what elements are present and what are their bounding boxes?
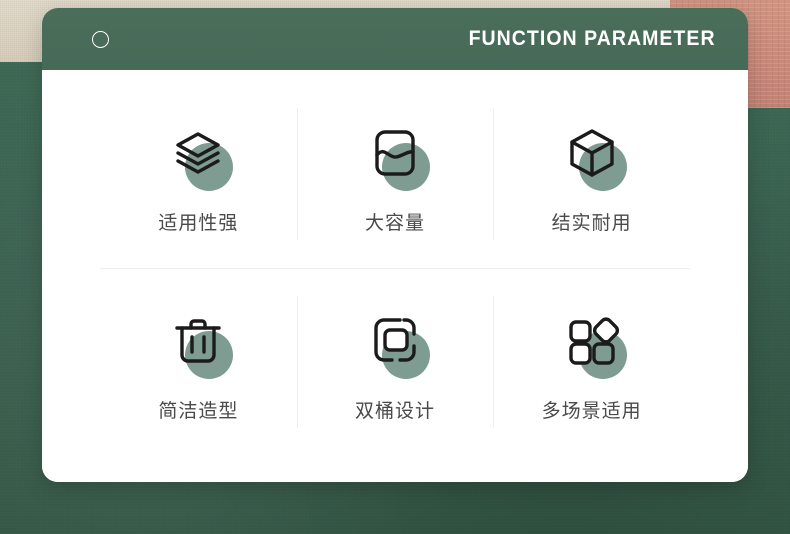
feature-label: 多场景适用 <box>542 396 642 423</box>
feature-label: 适用性强 <box>158 208 238 235</box>
feature-label: 简洁造型 <box>158 396 238 423</box>
layers-stack-icon <box>169 124 227 182</box>
feature-label: 双桶设计 <box>355 396 435 423</box>
icon-wrap <box>152 114 244 192</box>
feature-item-multi-scene[interactable]: 多场景适用 <box>493 268 690 456</box>
page-root: FUNCTION PARAMETER <box>0 0 790 534</box>
feature-item-capacity[interactable]: 大容量 <box>297 80 494 268</box>
icon-wrap <box>546 302 638 380</box>
circle-outline-icon <box>92 31 109 48</box>
icon-wrap <box>546 114 638 192</box>
feature-item-dual-bucket[interactable]: 双桶设计 <box>297 268 494 456</box>
trash-can-icon <box>169 312 227 370</box>
page-title: FUNCTION PARAMETER <box>469 27 716 51</box>
feature-item-simple-design[interactable]: 简洁造型 <box>100 268 297 456</box>
container-wave-icon <box>366 124 424 182</box>
feature-row-bottom: 简洁造型 双桶设计 <box>100 268 690 456</box>
feature-label: 结实耐用 <box>552 208 632 235</box>
feature-row-top: 适用性强 大容量 <box>100 80 690 268</box>
four-shapes-grid-icon <box>563 312 621 370</box>
feature-item-applicability[interactable]: 适用性强 <box>100 80 297 268</box>
cube-box-icon <box>563 124 621 182</box>
function-parameter-card: FUNCTION PARAMETER <box>42 8 748 482</box>
nested-squares-icon <box>366 312 424 370</box>
icon-wrap <box>349 302 441 380</box>
feature-label: 大容量 <box>365 208 425 235</box>
card-header: FUNCTION PARAMETER <box>42 8 748 70</box>
feature-item-durability[interactable]: 结实耐用 <box>493 80 690 268</box>
card-body: 适用性强 大容量 <box>42 70 748 482</box>
icon-wrap <box>349 114 441 192</box>
feature-grid: 适用性强 大容量 <box>100 80 690 472</box>
icon-wrap <box>152 302 244 380</box>
